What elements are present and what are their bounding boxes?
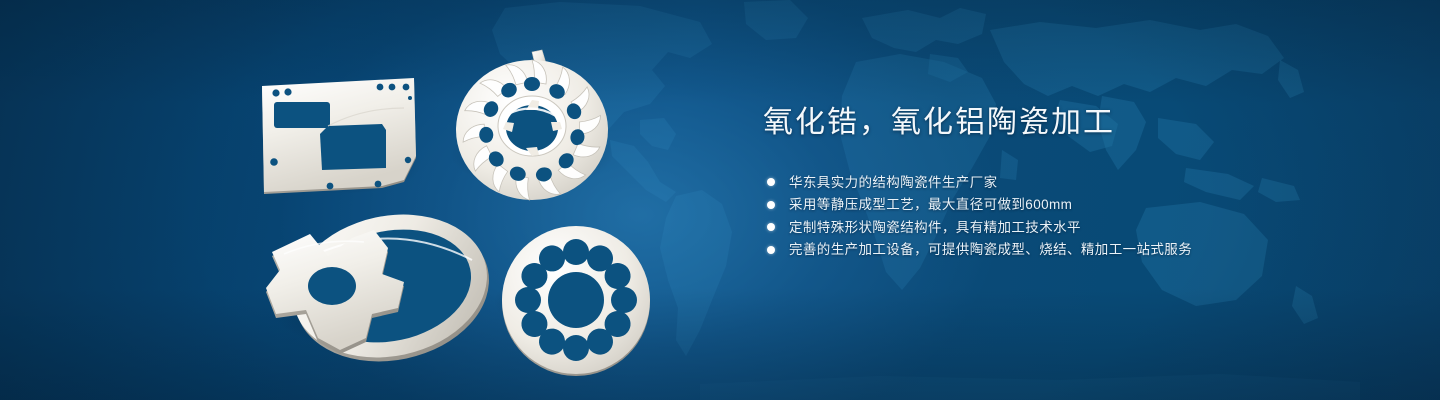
list-item: 完善的生产加工设备，可提供陶瓷成型、烧结、精加工一站式服务: [767, 243, 1403, 257]
bullet-dot-icon: [767, 201, 775, 209]
list-item-label: 采用等静压成型工艺，最大直径可做到600mm: [789, 197, 1072, 212]
list-item-label: 定制特殊形状陶瓷结构件，具有精加工技术水平: [789, 220, 1081, 235]
bullet-dot-icon: [767, 223, 775, 231]
list-item-label: 完善的生产加工设备，可提供陶瓷成型、烧结、精加工一站式服务: [789, 242, 1192, 257]
feature-list: 华东具实力的结构陶瓷件生产厂家 采用等静压成型工艺，最大直径可做到600mm 定…: [767, 176, 1403, 257]
list-item: 采用等静压成型工艺，最大直径可做到600mm: [767, 198, 1403, 212]
ceramic-impeller-disc-shape: [456, 50, 608, 200]
bullet-dot-icon: [767, 178, 775, 186]
list-item: 定制特殊形状陶瓷结构件，具有精加工技术水平: [767, 221, 1403, 235]
ceramic-flat-plate-shape: [262, 78, 416, 194]
list-item: 华东具实力的结构陶瓷件生产厂家: [767, 176, 1403, 190]
ceramic-products-image: [232, 42, 682, 380]
ceramic-perforated-disc-shape: [502, 226, 650, 376]
bullet-dot-icon: [767, 246, 775, 254]
page-title: 氧化锆，氧化铝陶瓷加工: [763, 104, 1403, 142]
banner-copy: 氧化锆，氧化铝陶瓷加工 华东具实力的结构陶瓷件生产厂家 采用等静压成型工艺，最大…: [763, 104, 1403, 257]
hero-banner: 氧化锆，氧化铝陶瓷加工 华东具实力的结构陶瓷件生产厂家 采用等静压成型工艺，最大…: [0, 0, 1440, 400]
list-item-label: 华东具实力的结构陶瓷件生产厂家: [789, 175, 998, 190]
